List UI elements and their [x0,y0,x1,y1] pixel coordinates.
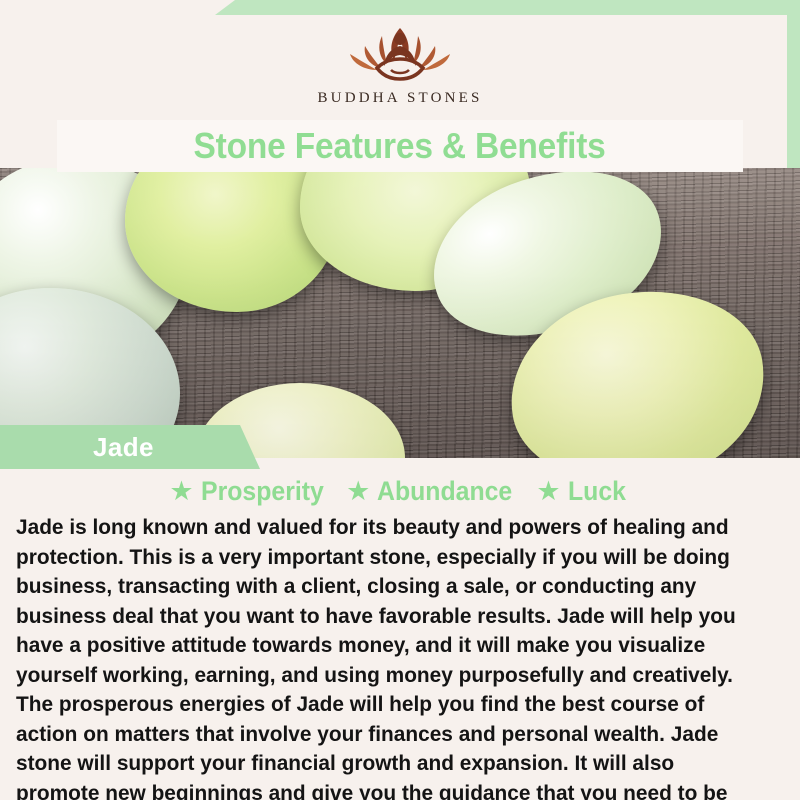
star-icon: ★ [346,478,370,505]
benefit-item: ★ Prosperity [169,476,334,507]
benefit-label: Luck [568,476,626,507]
benefit-label: Prosperity [201,476,324,507]
infographic-page: BUDDHA STONES Stone Features & Benefits … [0,0,800,800]
benefit-item: ★ Luck [536,476,630,507]
star-icon: ★ [536,478,560,505]
stone-name-label: Jade [93,432,154,463]
benefit-label: Abundance [377,476,512,507]
brand-wordmark: BUDDHA STONES [317,90,482,107]
lotus-meditation-icon [325,18,475,86]
page-title: Stone Features & Benefits [194,125,606,167]
photo-shading [0,168,800,458]
benefit-item: ★ Abundance [346,476,524,507]
stone-photo [0,168,800,458]
brand-logo: BUDDHA STONES [0,0,800,122]
title-banner: Stone Features & Benefits [57,120,743,172]
stone-name-banner: Jade [0,425,260,469]
content-area: ★ Prosperity ★ Abundance ★ Luck Jade is … [0,458,800,800]
stone-description: Jade is long known and valued for its be… [16,513,761,800]
star-icon: ★ [169,478,193,505]
